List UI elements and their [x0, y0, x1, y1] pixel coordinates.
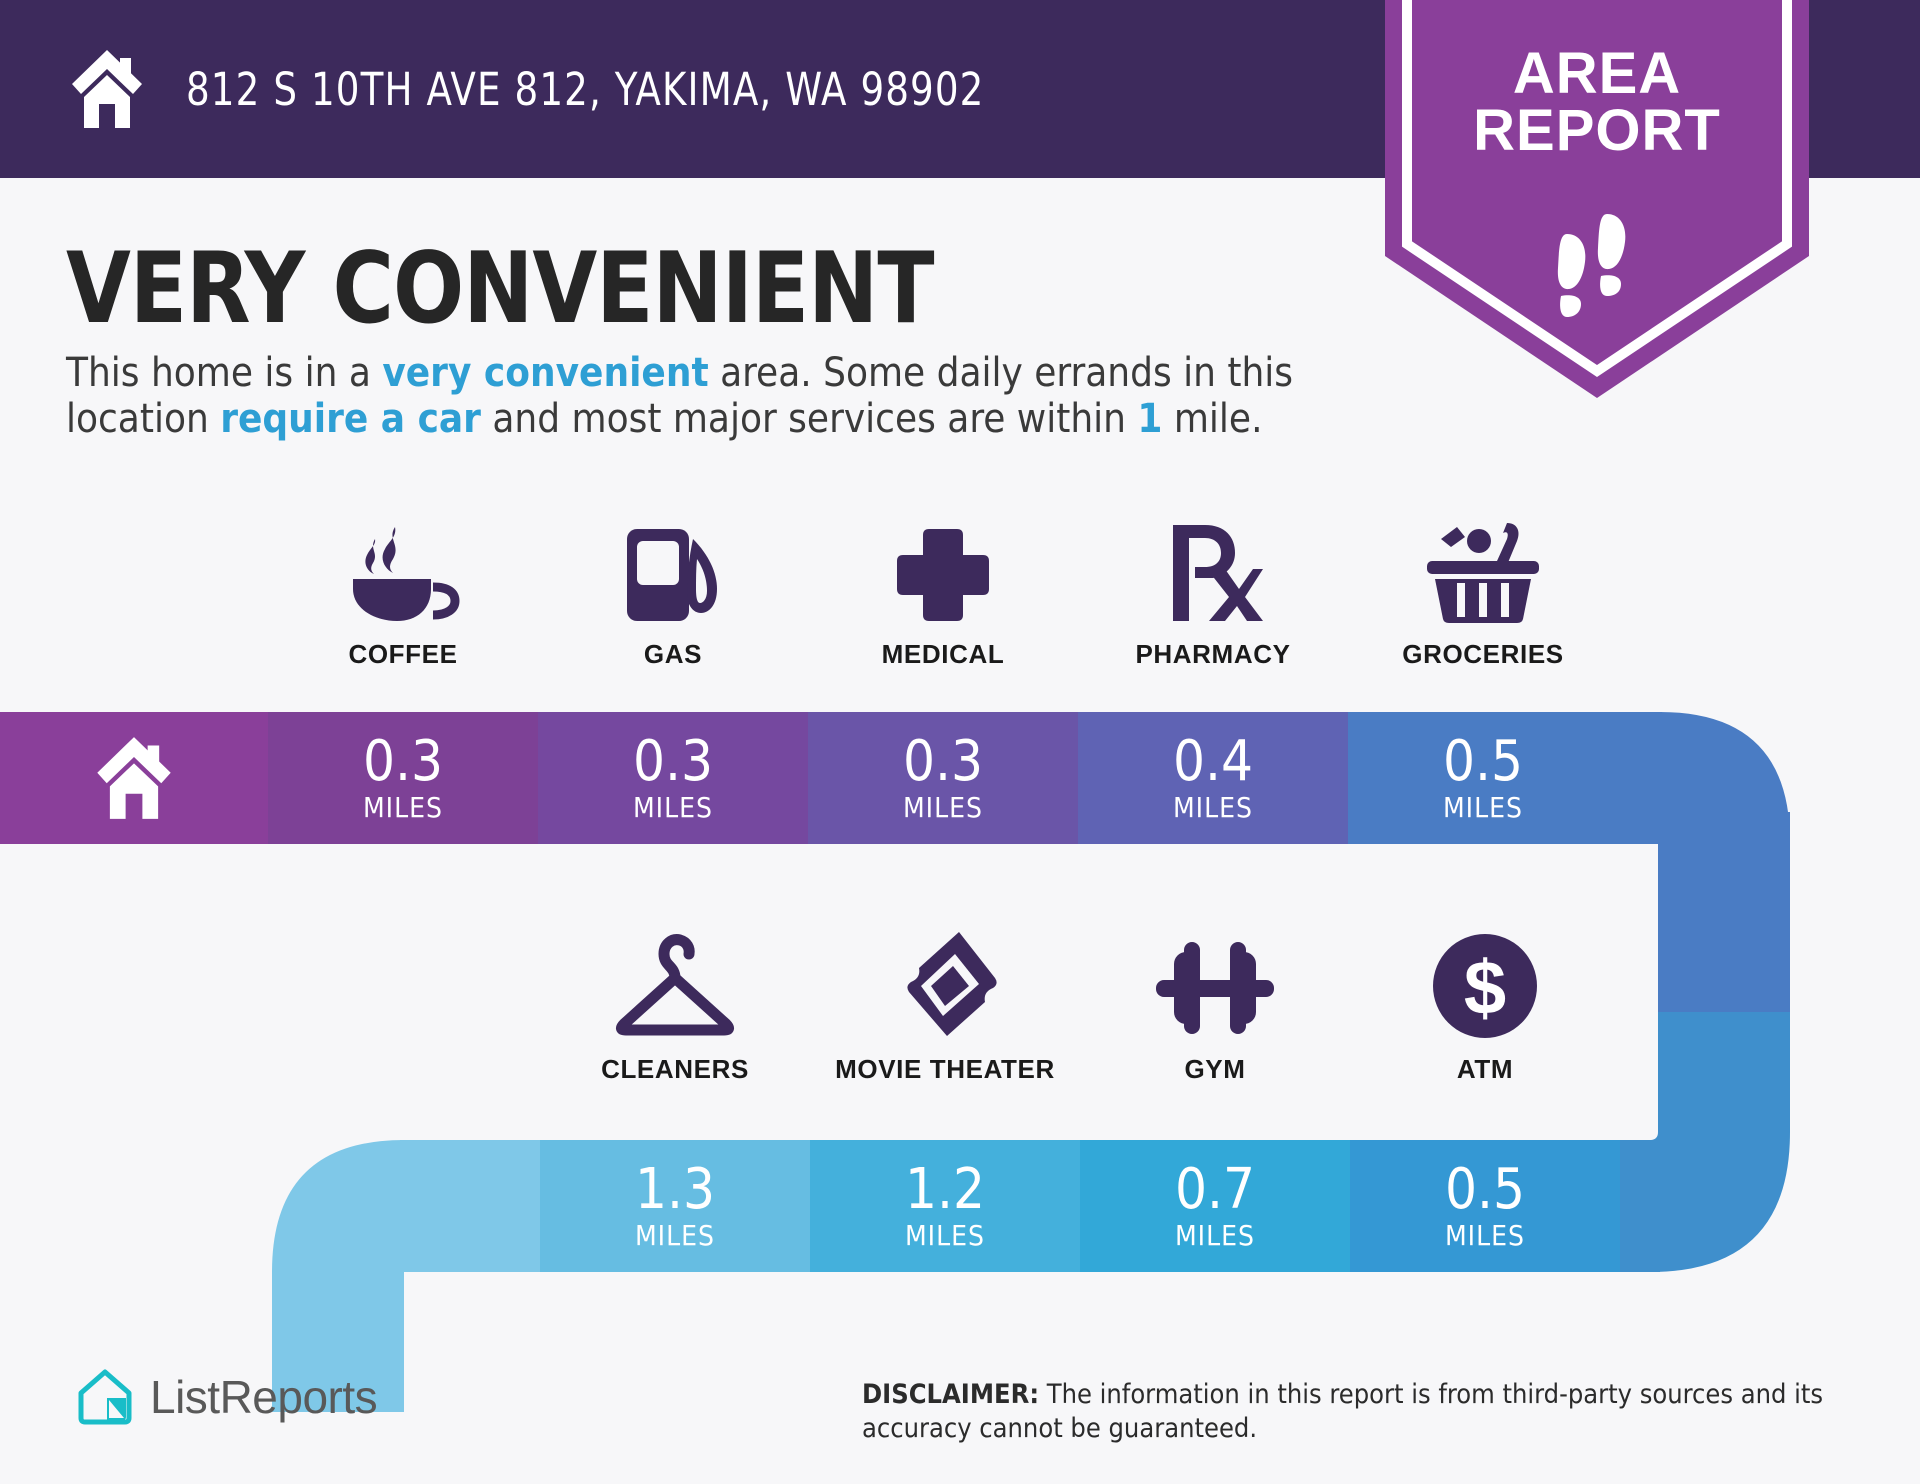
- category-groceries: GROCERIES: [1348, 515, 1618, 670]
- desc-part-4: mile.: [1162, 396, 1262, 442]
- page-title: VERY CONVENIENT: [66, 232, 934, 346]
- distance-cell: 0.5 MILES: [1348, 712, 1618, 844]
- distance-value: 0.4: [1173, 734, 1253, 790]
- listreports-house-icon: [76, 1368, 134, 1426]
- gas-pump-icon: [615, 515, 731, 625]
- property-address: 812 S 10TH AVE 812, YAKIMA, WA 98902: [186, 63, 984, 116]
- distance-value: 1.2: [905, 1162, 985, 1218]
- home-marker-cell: [0, 712, 268, 844]
- category-label: GROCERIES: [1402, 639, 1563, 670]
- row1-icon-strip: COFFEE GAS MEDICAL: [268, 515, 1618, 670]
- disclaimer-label: DISCLAIMER:: [862, 1379, 1039, 1410]
- row2-value-strip: 1.3 MILES 1.2 MILES 0.7 MILES 0.5 MILES: [540, 1140, 1620, 1272]
- area-report-infographic: 812 S 10TH AVE 812, YAKIMA, WA 98902 ARE…: [0, 0, 1920, 1484]
- category-medical: MEDICAL: [808, 515, 1078, 670]
- coffee-cup-icon: [345, 515, 461, 625]
- grocery-basket-icon: [1423, 515, 1543, 625]
- distance-value: 1.3: [635, 1162, 715, 1218]
- distance-cell: 1.2 MILES: [810, 1140, 1080, 1272]
- distance-unit: MILES: [1173, 794, 1253, 822]
- distance-unit: MILES: [633, 794, 713, 822]
- row2-icon-strip: CLEANERS MOVIE THEATER: [540, 930, 1620, 1085]
- home-icon: [91, 735, 177, 821]
- footprints-icon: [1537, 212, 1657, 320]
- distance-unit: MILES: [1443, 794, 1523, 822]
- distance-value: 0.3: [903, 734, 983, 790]
- category-cleaners: CLEANERS: [540, 930, 810, 1085]
- desc-highlight-1: very convenient: [382, 350, 708, 396]
- distance-cell: 0.3 MILES: [808, 712, 1078, 844]
- category-gas: GAS: [538, 515, 808, 670]
- category-movie-theater: MOVIE THEATER: [810, 930, 1080, 1085]
- category-label: MEDICAL: [882, 639, 1005, 670]
- distance-value: 0.5: [1445, 1162, 1525, 1218]
- desc-part-1: This home is in a: [66, 350, 382, 396]
- summary-description: This home is in a very convenient area. …: [66, 350, 1366, 443]
- medical-cross-icon: [893, 515, 993, 625]
- distance-unit: MILES: [1175, 1222, 1255, 1250]
- area-report-badge: AREA REPORT: [1377, 0, 1817, 406]
- distance-unit: MILES: [363, 794, 443, 822]
- distance-cell: 0.5 MILES: [1350, 1140, 1620, 1272]
- home-icon: [68, 48, 146, 130]
- category-label: GAS: [644, 639, 702, 670]
- distance-cell: 0.4 MILES: [1078, 712, 1348, 844]
- dumbbell-icon: [1140, 930, 1290, 1040]
- distance-value: 0.3: [633, 734, 713, 790]
- category-label: MOVIE THEATER: [835, 1054, 1055, 1085]
- category-label: PHARMACY: [1135, 639, 1290, 670]
- desc-highlight-3: 1: [1137, 396, 1162, 442]
- desc-part-3: and most major services are within: [481, 396, 1137, 442]
- distance-unit: MILES: [635, 1222, 715, 1250]
- disclaimer: DISCLAIMER: The information in this repo…: [862, 1378, 1872, 1446]
- distance-value: 0.7: [1175, 1162, 1255, 1218]
- category-label: CLEANERS: [601, 1054, 749, 1085]
- rx-icon: [1163, 515, 1263, 625]
- category-atm: $ ATM: [1350, 930, 1620, 1085]
- distance-value: 0.3: [363, 734, 443, 790]
- clothes-hanger-icon: [610, 930, 740, 1040]
- category-coffee: COFFEE: [268, 515, 538, 670]
- distance-cell: 1.3 MILES: [540, 1140, 810, 1272]
- distance-unit: MILES: [903, 794, 983, 822]
- row1-value-strip: 0.3 MILES 0.3 MILES 0.3 MILES 0.4 MILES …: [268, 712, 1618, 844]
- distance-unit: MILES: [905, 1222, 985, 1250]
- category-label: COFFEE: [348, 639, 457, 670]
- movie-ticket-icon: [887, 930, 1003, 1040]
- logo-wordmark: ListReports: [150, 1370, 377, 1424]
- dollar-circle-icon: $: [1431, 930, 1539, 1040]
- distance-cell: 0.7 MILES: [1080, 1140, 1350, 1272]
- category-pharmacy: PHARMACY: [1078, 515, 1348, 670]
- distance-cell: 0.3 MILES: [538, 712, 808, 844]
- svg-text:$: $: [1464, 946, 1506, 1031]
- distance-cell: 0.3 MILES: [268, 712, 538, 844]
- category-label: GYM: [1184, 1054, 1245, 1085]
- distance-value: 0.5: [1443, 734, 1523, 790]
- desc-highlight-2: require a car: [220, 396, 481, 442]
- listreports-logo: ListReports: [76, 1368, 377, 1426]
- category-gym: GYM: [1080, 930, 1350, 1085]
- category-label: ATM: [1457, 1054, 1513, 1085]
- distance-unit: MILES: [1445, 1222, 1525, 1250]
